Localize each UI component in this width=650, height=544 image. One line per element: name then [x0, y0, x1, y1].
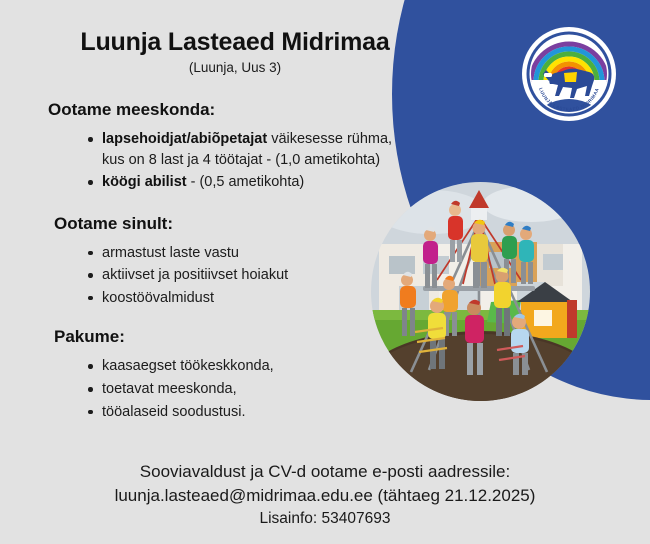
page-subtitle: (Luunja, Uus 3) [0, 60, 470, 75]
list-item: koostöövalmidust [0, 288, 400, 309]
list-item-text: toetavat meeskonda, [102, 381, 237, 397]
list-item: armastust laste vastu [0, 243, 400, 264]
staff-playground-photo [371, 182, 590, 401]
poster-header: Luunja Lasteaed Midrimaa (Luunja, Uus 3) [0, 28, 470, 75]
page-title: Luunja Lasteaed Midrimaa [0, 28, 470, 57]
section-heading: Ootame meeskonda: [0, 100, 400, 120]
section-heading: Pakume: [0, 327, 400, 347]
kindergarten-logo: LUUNJA LASTEAED MIDRIMAA [519, 24, 619, 124]
section-list: armastust laste vastu aktiivset ja posit… [0, 243, 400, 309]
list-item-bold: köögi abilist [102, 174, 187, 190]
footer-line-email-deadline[interactable]: luunja.lasteaed@midrimaa.edu.ee (tähtaeg… [0, 484, 650, 508]
section-ootame-meeskonda: Ootame meeskonda: lapsehoidjat/abiõpetaj… [0, 100, 400, 193]
section-list: lapsehoidjat/abiõpetajat väikesesse rühm… [0, 129, 400, 193]
contact-footer: Sooviavaldust ja CV-d ootame e-posti aad… [0, 460, 650, 530]
spacer [0, 195, 400, 214]
section-pakume: Pakume: kaasaegset töökeskkonda, toetava… [0, 327, 400, 422]
list-item-text: koostöövalmidust [102, 290, 214, 306]
list-item-text: tööalaseid soodustusi. [102, 404, 246, 420]
list-item: toetavat meeskonda, [0, 379, 400, 400]
spacer [0, 310, 400, 327]
list-item-text: kaasaegset töökeskkonda, [102, 358, 274, 374]
list-item-text: armastust laste vastu [102, 245, 239, 261]
list-item-text: - (0,5 ametikohta) [187, 174, 305, 190]
footer-line-intro: Sooviavaldust ja CV-d ootame e-posti aad… [0, 460, 650, 484]
job-advert-poster: LUUNJA LASTEAED MIDRIMAA [0, 0, 650, 544]
section-heading: Ootame sinult: [0, 214, 400, 234]
footer-line-phone[interactable]: Lisainfo: 53407693 [0, 508, 650, 530]
list-item: köögi abilist - (0,5 ametikohta) [0, 172, 400, 193]
section-list: kaasaegset töökeskkonda, toetavat meesko… [0, 356, 400, 422]
list-item-text: aktiivset ja positiivset hoiakut [102, 267, 288, 283]
poster-content: Ootame meeskonda: lapsehoidjat/abiõpetaj… [0, 100, 400, 424]
list-item-bold: lapsehoidjat/abiõpetajat [102, 131, 267, 147]
list-item: kaasaegset töökeskkonda, [0, 356, 400, 377]
list-item: tööalaseid soodustusi. [0, 402, 400, 423]
section-ootame-sinult: Ootame sinult: armastust laste vastu akt… [0, 214, 400, 309]
list-item: lapsehoidjat/abiõpetajat väikesesse rühm… [0, 129, 400, 170]
list-item: aktiivset ja positiivset hoiakut [0, 265, 400, 286]
